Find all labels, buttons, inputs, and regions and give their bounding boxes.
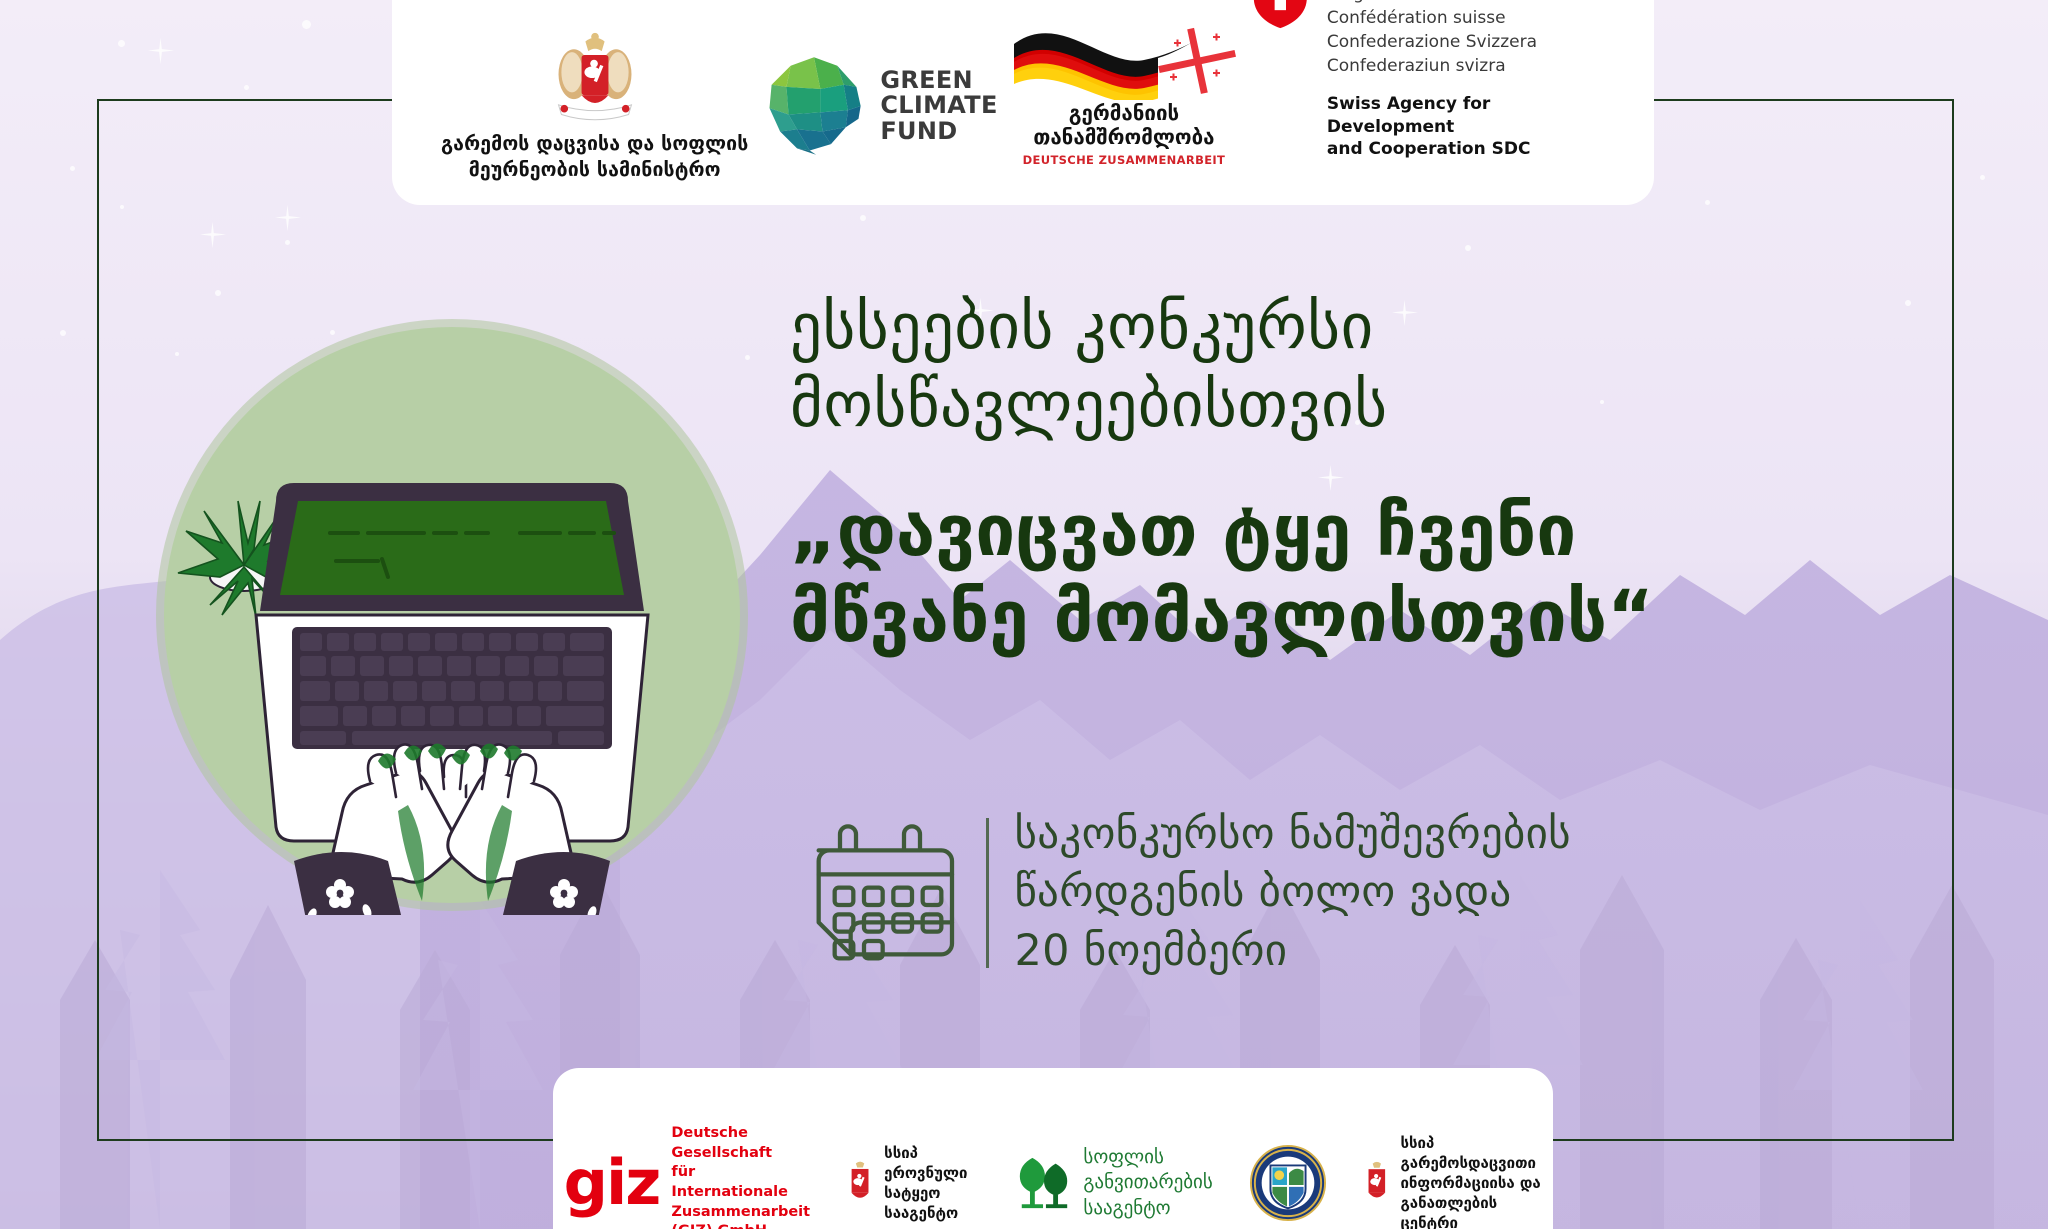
rural-label-line1: სოფლის (1083, 1145, 1212, 1170)
environmental-agency-seal-icon (1249, 1144, 1327, 1222)
rural-development-agency-logo-block: სოფლის განვითარების სააგენტო (1015, 1145, 1212, 1221)
georgia-coat-of-arms-icon (547, 30, 643, 126)
swiss-line4: Confederaziun svizra (1327, 54, 1608, 78)
giz-wordmark: giz (564, 1158, 660, 1209)
headline-text: „დავიცვათ ტყე ჩვენი მწვანე მომავლისთვის“ (790, 488, 1920, 660)
partner-logo-footer-card: giz Deutsche Gesellschaft für Internatio… (553, 1068, 1553, 1229)
sparkle-icon (148, 38, 174, 64)
german-coop-de-line: DEUTSCHE ZUSAMMENARBEIT (1023, 153, 1226, 167)
poster-canvas: გარემოს დაცვისა და სოფლის მეურნეობის სამ… (0, 0, 2048, 1229)
partner-logo-header-card: გარემოს დაცვისა და სოფლის მეურნეობის სამ… (392, 0, 1654, 205)
green-climate-fund-globe-icon (761, 53, 867, 159)
gcf-line1: GREEN (880, 68, 997, 93)
giz-logo-block: giz Deutsche Gesellschaft für Internatio… (564, 1124, 810, 1229)
green-climate-fund-logo-block: GREEN CLIMATE FUND (761, 53, 997, 159)
national-forestry-agency-logo-block: სსიპ ეროვნული სატყეო სააგენტო (846, 1143, 979, 1223)
giz-sub-line3: Zusammenarbeit (GIZ) GmbH (671, 1203, 810, 1229)
deadline-line1: საკონკურსო ნამუშევრების (1015, 805, 1571, 863)
headline-block: ესსეების კონკურსი მოსწავლეებისთვის „დავი… (790, 288, 1920, 660)
kicker-line2: მოსწავლეებისთვის (790, 366, 1920, 444)
swiss-line2: Confédération suisse (1327, 6, 1608, 30)
rural-label-line2: განვითარების (1083, 1170, 1212, 1195)
kicker-line1: ესსეების კონკურსი (790, 288, 1920, 366)
swiss-cooperation-logo-block: Schweizerische Eidgenossenschaft Confédé… (1250, 0, 1608, 161)
envcenter-label-line2: ინფორმაციისა და (1400, 1173, 1542, 1193)
rural-development-trees-icon (1015, 1154, 1073, 1212)
gcf-line2: CLIMATE (880, 93, 997, 118)
headline-line1: „დავიცვათ ტყე ჩვენი (790, 488, 1920, 574)
deadline-block: საკონკურსო ნამუშევრების წარდგენის ბოლო ვ… (800, 805, 1571, 980)
envcenter-label-line1: სსიპ გარემოსდაცვითი (1400, 1133, 1542, 1173)
headline-line2: მწვანე მომავლისთვის“ (790, 574, 1920, 660)
deadline-divider (986, 818, 989, 968)
germany-georgia-flags-icon (1008, 14, 1240, 100)
deadline-line2: წარდგენის ბოლო ვადა (1015, 863, 1571, 921)
swiss-agency-line2: and Cooperation SDC (1327, 138, 1608, 161)
hands-typing-on-laptop-illustration (152, 315, 752, 915)
forestry-label-line1: სსიპ ეროვნული (884, 1143, 979, 1183)
swiss-line3: Confederazione Svizzera (1327, 30, 1608, 54)
environmental-info-center-logo-block: სსიპ გარემოსდაცვითი ინფორმაციისა და განა… (1363, 1133, 1543, 1229)
georgia-shield-icon (846, 1151, 874, 1215)
giz-sub-line1: Deutsche Gesellschaft (671, 1124, 810, 1163)
environmental-agency-seal-block (1249, 1144, 1327, 1222)
envcenter-label-line3: განათლების ცენტრი (1400, 1193, 1542, 1229)
rural-label-line3: სააგენტო (1083, 1196, 1212, 1221)
swiss-cross-shield-icon (1250, 0, 1311, 32)
gcf-line3: FUND (880, 119, 997, 144)
swiss-agency-line1: Swiss Agency for Development (1327, 93, 1608, 138)
german-cooperation-logo-block: გერმანიის თანამშრომლობა DEUTSCHE ZUSAMME… (1008, 14, 1241, 167)
georgia-shield-small-icon (1363, 1155, 1391, 1211)
kicker-text: ესსეების კონკურსი მოსწავლეებისთვის (790, 288, 1920, 444)
giz-sub-line2: für Internationale (671, 1163, 810, 1202)
forestry-label-line2: სატყეო სააგენტო (884, 1183, 979, 1223)
calendar-icon (800, 813, 960, 973)
ministry-logo-block: გარემოს დაცვისა და სოფლის მეურნეობის სამ… (438, 30, 751, 183)
ministry-name-line1: გარემოს დაცვისა და სოფლის (441, 131, 748, 157)
deadline-line3: 20 ნოემბერი (1015, 922, 1571, 980)
ministry-name-line2: მეურნეობის სამინისტრო (441, 157, 748, 183)
german-coop-ka-line1: გერმანიის (1033, 102, 1214, 126)
deadline-text: საკონკურსო ნამუშევრების წარდგენის ბოლო ვ… (1015, 805, 1571, 980)
german-coop-ka-line2: თანამშრომლობა (1033, 126, 1214, 150)
